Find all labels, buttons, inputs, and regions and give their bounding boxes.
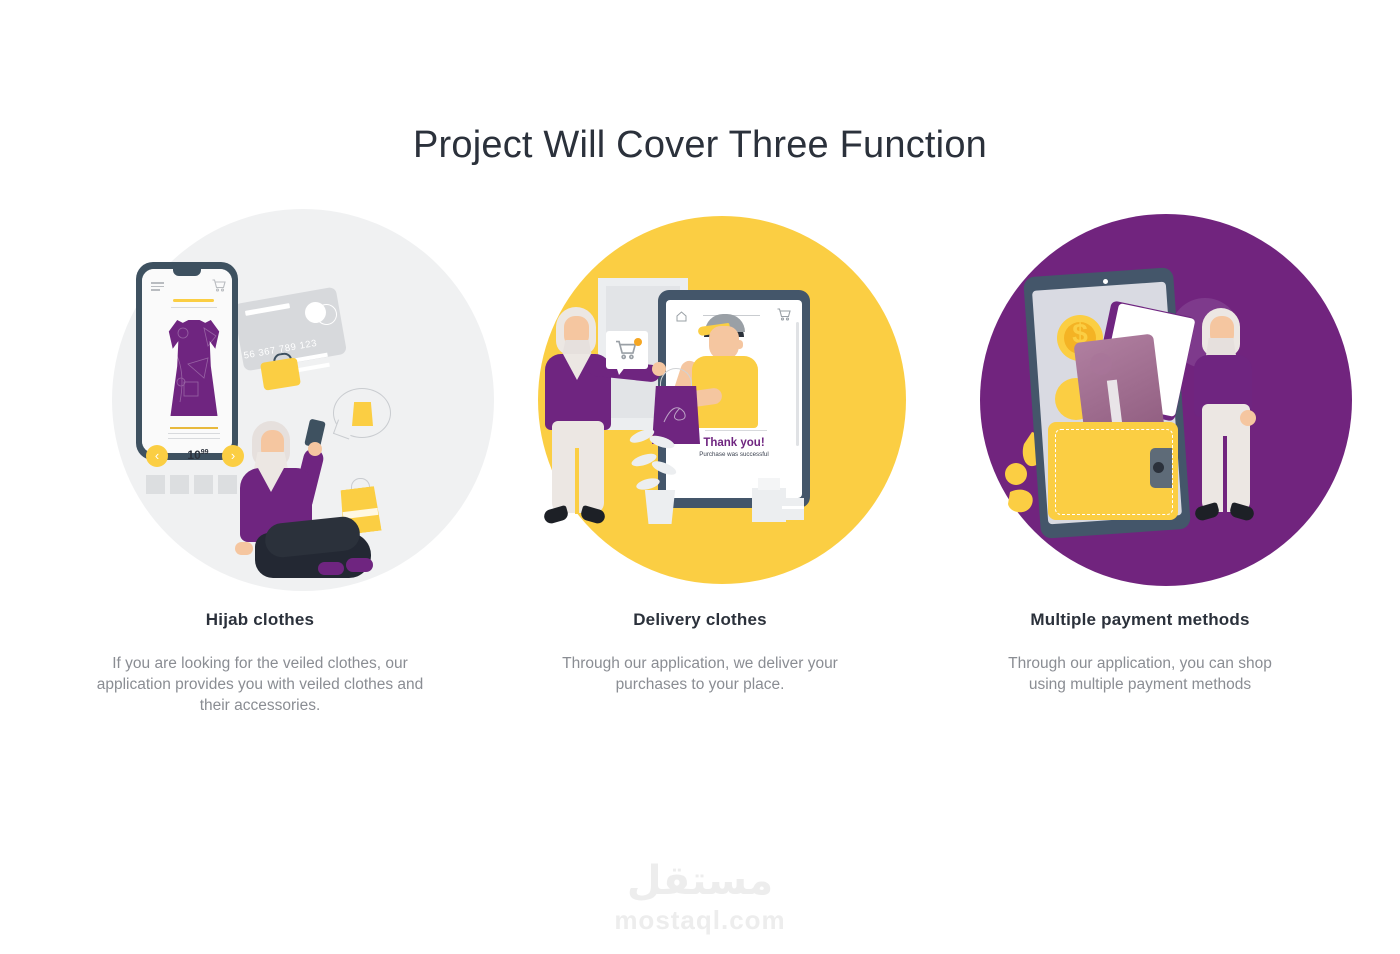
woman-hand	[1240, 410, 1256, 426]
woman-shoe-left	[543, 505, 570, 525]
tab-divider-line	[171, 307, 217, 308]
active-tab-underline	[173, 299, 214, 302]
shopping-cart-icon[interactable]	[777, 308, 791, 326]
woman-shoe-left	[318, 562, 344, 575]
screen-divider-line	[705, 430, 767, 431]
carousel-prev-button[interactable]: ‹	[146, 445, 168, 467]
woman-leg-gap	[1223, 436, 1227, 514]
feature-card-multiple-payment-methods: $	[925, 190, 1355, 695]
card-title-delivery-clothes: Delivery clothes	[633, 610, 767, 630]
illustration-delivery-clothes: Thank you! Purchase was successful	[500, 190, 900, 610]
card-title-multiple-payment-methods: Multiple payment methods	[1030, 610, 1249, 630]
card-title-hijab-clothes: Hijab clothes	[206, 610, 314, 630]
hamburger-menu-icon-line2	[151, 286, 164, 288]
card-body-delivery-clothes: Through our application, we deliver your…	[550, 653, 850, 695]
delivery-box	[752, 488, 786, 522]
illustration-multiple-payment-methods: $	[940, 190, 1340, 610]
product-price-value: 10	[187, 448, 200, 462]
page-root: Project Will Cover Three Function 56 367…	[0, 0, 1400, 954]
hamburger-menu-icon[interactable]	[151, 282, 164, 284]
skirt-icon	[352, 402, 373, 426]
home-icon[interactable]	[676, 309, 687, 327]
gift-box	[782, 498, 804, 520]
courier-face	[709, 326, 739, 360]
woman-shoe-right	[346, 558, 373, 572]
product-thumbnail-4[interactable]	[218, 475, 237, 494]
page-title: Project Will Cover Three Function	[0, 124, 1400, 167]
dress-pattern-overlay	[166, 320, 222, 416]
product-detail-line-2	[168, 438, 220, 439]
woman-hand-resting	[235, 542, 253, 555]
card-body-multiple-payment-methods: Through our application, you can shop us…	[990, 653, 1290, 695]
plant-leaves	[628, 426, 690, 498]
feature-card-hijab-clothes: 56 367 789 123	[45, 190, 475, 716]
product-thumbnail-1[interactable]	[146, 475, 165, 494]
cart-badge-icon	[634, 338, 642, 346]
product-price-cents: 99	[201, 449, 209, 456]
woman-leg-gap	[575, 448, 579, 514]
tablet-camera	[1103, 279, 1108, 284]
watermark-domain: mostaql.com	[0, 904, 1400, 936]
illustration-hijab-clothes: 56 367 789 123	[60, 190, 460, 610]
card-body-hijab-clothes: If you are looking for the veiled clothe…	[88, 653, 433, 716]
phone-notch	[173, 269, 201, 276]
wallet-clasp-button	[1153, 462, 1164, 473]
watermark-arabic-logo: مستقل	[0, 858, 1400, 904]
woman-hand	[308, 442, 322, 456]
product-detail-line-1	[168, 433, 220, 434]
product-thumbnail-2[interactable]	[170, 475, 189, 494]
carousel-next-button[interactable]: ›	[222, 445, 244, 467]
product-thumbnail-3[interactable]	[194, 475, 213, 494]
mostaql-watermark: مستقل mostaql.com	[0, 858, 1400, 936]
feature-cards-row: 56 367 789 123	[0, 190, 1400, 716]
delivery-box-lid	[758, 478, 780, 490]
tablet-scrollbar[interactable]	[796, 322, 799, 446]
yellow-purse-icon	[260, 357, 301, 390]
courier-ear	[736, 340, 743, 349]
gift-box-ribbon	[782, 506, 804, 509]
hamburger-menu-icon-line3	[151, 289, 160, 291]
price-accent-line	[170, 427, 218, 429]
shopping-cart-icon[interactable]	[212, 279, 226, 297]
feature-card-delivery-clothes: Thank you! Purchase was successful	[485, 190, 915, 695]
product-price: 1099	[176, 448, 220, 462]
